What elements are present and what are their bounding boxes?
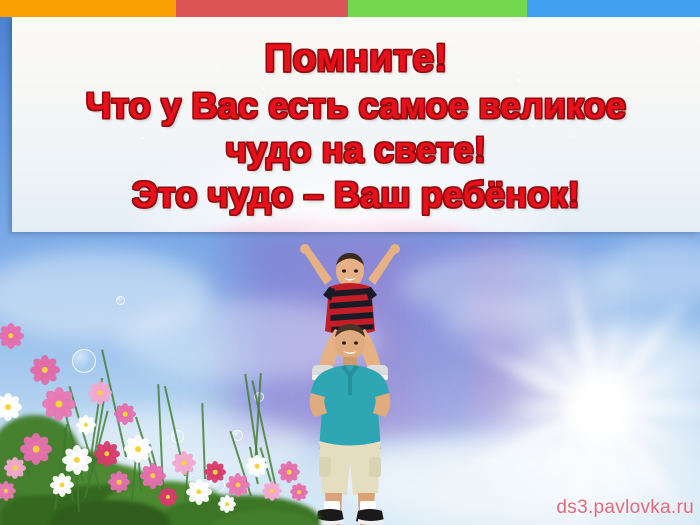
top-bar-segment-orange [0,0,176,17]
flower-center [33,446,40,453]
cosmos-flower [218,495,236,513]
flower-center [287,470,292,475]
flower-center [225,502,229,506]
flower-center [5,404,11,410]
message-line-3: чудо на свете! [12,132,700,169]
cosmos-flower [172,451,196,475]
site-watermark: ds3.pavlovka.ru [556,497,694,519]
cosmos-flower [42,387,76,421]
top-color-bar [0,0,700,17]
cosmos-flower [76,415,96,435]
cosmos-flower [30,355,60,385]
top-bar-segment-red [176,0,348,17]
flower-center [181,460,186,465]
message-line-2: Что у Вас есть самое великое [12,88,700,125]
flower-center [123,412,128,417]
cosmos-flower [290,483,308,501]
cosmos-flower [62,445,92,475]
flower-center [135,446,141,452]
message-line-1: Помните! [12,39,700,79]
flower-center [97,390,102,395]
cosmos-flower [246,455,268,477]
cosmos-flower [262,481,282,501]
cosmos-flower [158,487,178,507]
message-line-4: Это чудо – Ваш ребёнок! [12,177,700,214]
flower-center [13,466,18,471]
cosmos-flower [124,435,152,463]
flower-center [59,482,64,487]
cosmos-flower [114,403,136,425]
cosmos-flower [0,323,24,349]
cosmos-flower-meadow [0,295,320,525]
cosmos-flower [186,479,212,505]
cosmos-flower [140,463,166,489]
flower-center [213,470,218,475]
cosmos-flower [226,473,250,497]
cosmos-flower [278,461,300,483]
cosmos-flower [88,381,112,405]
sun-burst-icon [600,408,602,410]
message-text-block: Помните! Что у Вас есть самое великое чу… [12,39,700,214]
flower-center [297,490,301,494]
message-panel: Помните! Что у Вас есть самое великое чу… [12,17,700,232]
top-bar-segment-green [348,0,527,17]
top-bar-segment-blue [527,0,700,17]
cosmos-flower [4,457,26,479]
cosmos-flower [50,473,74,497]
flower-center [117,480,122,485]
flower-center [255,464,260,469]
cosmos-flower [94,441,120,467]
cosmos-flower [108,471,130,493]
cosmos-flower [20,433,52,465]
cosmos-flower [204,461,226,483]
slide-canvas: Помните! Что у Вас есть самое великое чу… [0,0,700,525]
flower-center [235,482,240,487]
